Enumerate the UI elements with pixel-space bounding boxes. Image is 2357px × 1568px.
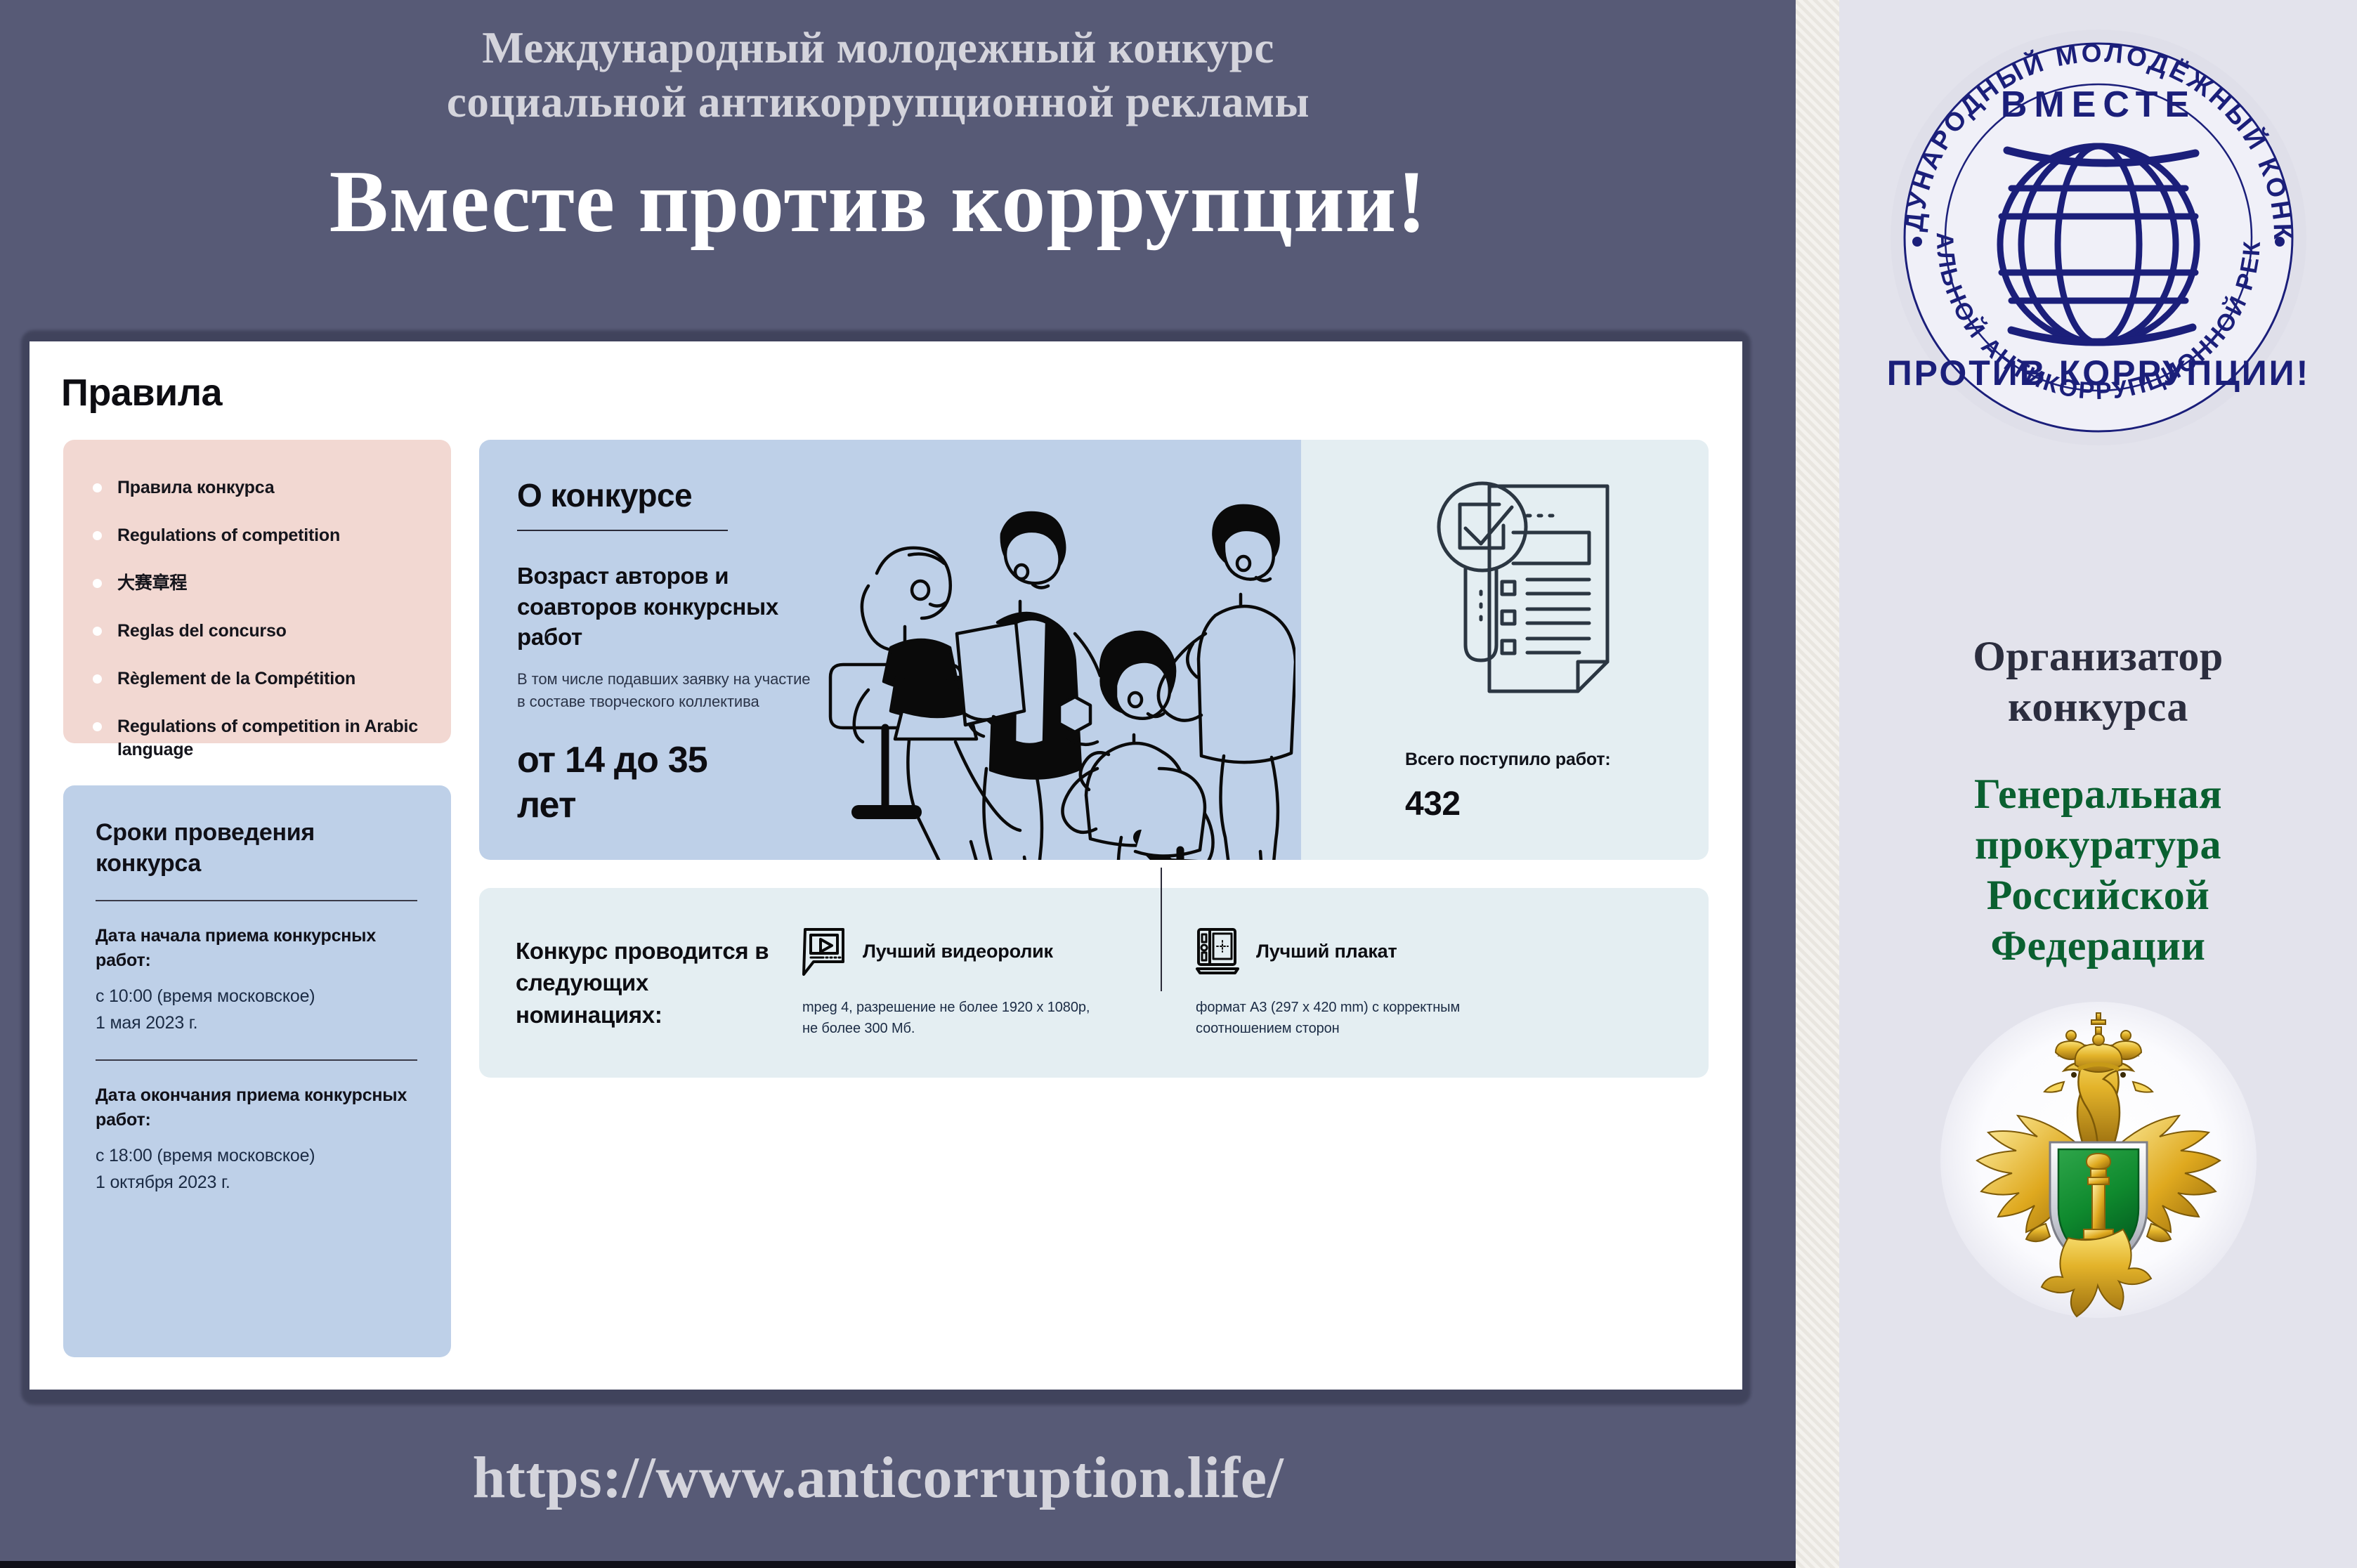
total-works-value: 432 [1405, 785, 1461, 823]
age-heading: Возраст авторов и соавторов конкурсных р… [517, 561, 798, 653]
end-date-time: с 18:00 (время московское) [96, 1144, 417, 1169]
prosecutor-general-emblem [1940, 1002, 2257, 1318]
bullet-icon [93, 531, 102, 540]
total-works-label: Всего поступило работ: [1405, 750, 1611, 770]
organizer-name: Генеральная прокуратура Российской Федер… [1974, 769, 2222, 971]
bottom-rule [0, 1561, 1796, 1568]
texture-divider [1796, 0, 1839, 1568]
list-item[interactable]: Regulations of competition [93, 524, 423, 547]
nomination-title: Лучший видеоролик [863, 939, 1053, 965]
organizer-name-line3: Российской [1974, 870, 2222, 920]
page-title: Вместе против коррупции! [0, 152, 1756, 254]
rule-label: 大赛章程 [117, 572, 187, 595]
nomination-title: Лучший плакат [1256, 939, 1397, 965]
rule-label: Regulations of competition [117, 524, 340, 547]
website-url[interactable]: https://www.anticorruption.life/ [0, 1444, 1756, 1512]
divider [517, 530, 728, 531]
nomination-poster: Лучший плакат формат А3 (297 x 420 mm) с… [1175, 927, 1568, 1040]
nomination-video: Лучший видеоролик mpeg 4, разрешение не … [781, 927, 1175, 1040]
list-item[interactable]: 大赛章程 [93, 572, 423, 595]
bullet-icon [93, 722, 102, 731]
poster-root: Международный молодежный конкурс социаль… [0, 0, 2357, 1568]
bullet-icon [93, 483, 102, 492]
header-subtitle-line2: социальной антикоррупционной рекламы [0, 75, 1756, 129]
dates-box: Сроки проведения конкурса Дата начала пр… [63, 785, 451, 1357]
bullet-icon [93, 627, 102, 636]
contest-emblem-logo: МЕЖДУНАРОДНЫЙ МОЛОДЁЖНЫЙ КОНКУРС СОЦИАЛЬ… [1874, 13, 2323, 462]
right-sidebar: МЕЖДУНАРОДНЫЙ МОЛОДЁЖНЫЙ КОНКУРС СОЦИАЛЬ… [1839, 0, 2357, 1568]
age-note: В том числе подавших заявку на участие в… [517, 668, 812, 713]
nominations-panel: Конкурс проводится в следующих номинация… [479, 888, 1709, 1078]
rule-label: Reglas del concurso [117, 620, 287, 643]
nominations-lead: Конкурс проводится в следующих номинация… [479, 935, 781, 1031]
age-range: от 14 до 35 лет [517, 738, 749, 828]
list-item[interactable]: Правила конкурса [93, 476, 423, 499]
video-icon [802, 927, 846, 977]
list-item[interactable]: Règlement de la Compétition [93, 667, 423, 691]
emblem-center-top: ВМЕСТЕ [2000, 84, 2195, 125]
card-title: Правила [61, 371, 222, 414]
rules-list-box: Правила конкурса Regulations of competit… [63, 440, 451, 743]
document-review-icon [1422, 471, 1633, 738]
organizer-name-line2: прокуратура [1974, 819, 2222, 870]
organizer-title-line2: конкурса [1973, 681, 2224, 732]
about-right-column: Всего поступило работ: 432 [1301, 440, 1709, 860]
young-people-illustration [818, 466, 1295, 860]
list-item[interactable]: Regulations of competition in Arabic lan… [93, 715, 423, 762]
list-item[interactable]: Reglas del concurso [93, 620, 423, 643]
main-panel: Международный молодежный конкурс социаль… [0, 0, 1796, 1568]
rule-label: Правила конкурса [117, 476, 274, 499]
graphics-tablet-icon [1196, 927, 1239, 977]
about-left-column: О конкурсе Возраст авторов и соавторов к… [479, 440, 1301, 860]
start-date-time: с 10:00 (время московское) [96, 984, 417, 1010]
rule-label: Règlement de la Compétition [117, 667, 355, 691]
organizer-name-line1: Генеральная [1974, 769, 2222, 819]
double-headed-eagle-icon [1940, 1002, 2257, 1318]
divider [96, 900, 417, 901]
rules-card: Правила Правила конкурса Regulations of … [30, 341, 1742, 1390]
bullet-icon [93, 579, 102, 588]
end-date-label: Дата окончания приема конкурсных работ: [96, 1083, 417, 1132]
nomination-desc: формат А3 (297 x 420 mm) с корректным со… [1196, 997, 1491, 1040]
organizer-title: Организатор конкурса [1973, 631, 2224, 732]
poster-header: Международный молодежный конкурс социаль… [0, 21, 1756, 254]
emblem-center-bottom: ПРОТИВ КОРРУПЦИИ! [1886, 353, 2310, 393]
organizer-name-line4: Федерации [1974, 920, 2222, 971]
bullet-icon [93, 674, 102, 684]
rule-label: Regulations of competition in Arabic lan… [117, 715, 423, 762]
header-subtitle-line1: Международный молодежный конкурс [0, 21, 1756, 75]
about-panel: О конкурсе Возраст авторов и соавторов к… [479, 440, 1709, 860]
start-date-label: Дата начала приема конкурсных работ: [96, 924, 417, 972]
organizer-title-line1: Организатор [1973, 631, 2224, 681]
start-date-value: 1 мая 2023 г. [96, 1011, 417, 1036]
divider [96, 1059, 417, 1061]
dates-title: Сроки проведения конкурса [96, 818, 417, 879]
end-date-value: 1 октября 2023 г. [96, 1170, 417, 1196]
nomination-desc: mpeg 4, разрешение не более 1920 x 1080p… [802, 997, 1097, 1040]
